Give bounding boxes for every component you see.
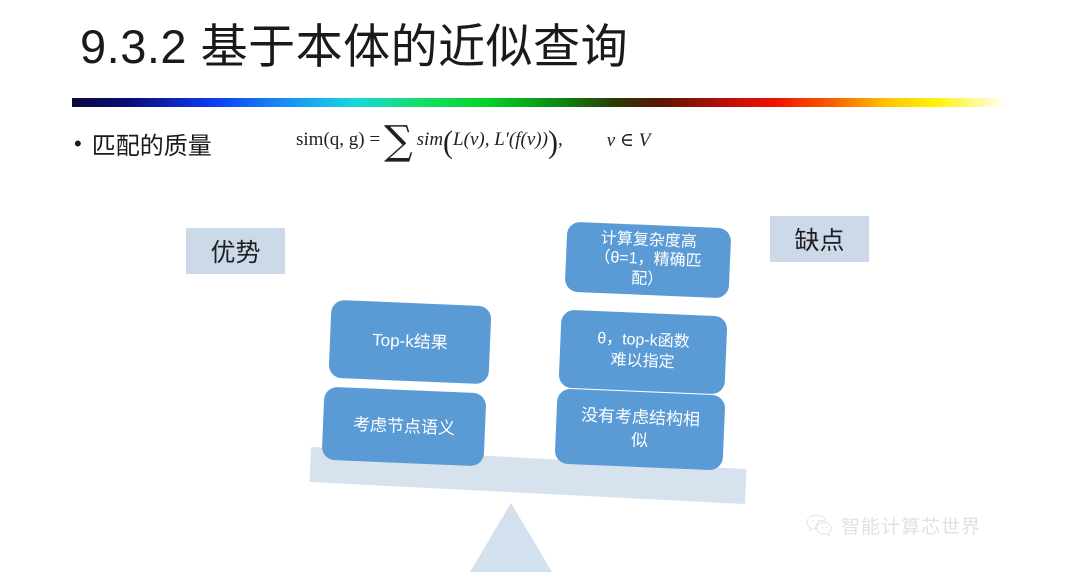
slide-canvas: 9.3.2 基于本体的近似查询 • 匹配的质量 sim(q, g) = ∑ si… [0,0,1080,572]
title-accent-rule [72,98,1008,107]
block-high-complexity-line1: 计算复杂度高 [600,230,697,251]
block-theta-topk-hard-text: θ，top-k函数 难以指定 [596,329,690,374]
block-high-complexity-line2: （θ=1，精确匹 [594,249,702,270]
formula-open-paren: ( [443,131,453,153]
formula-lhs: sim(q, g) = [296,129,380,151]
label-disadvantages: 缺点 [770,216,869,262]
block-theta-topk-hard: θ，top-k函数 难以指定 [558,310,727,395]
block-node-semantics: 考虑节点语义 [322,387,487,467]
block-no-structural-similarity-text: 没有考虑结构相 似 [580,405,701,454]
formula-args: L(v), L′(f(v)) [453,129,548,151]
bullet-marker: • [74,133,82,155]
block-theta-topk-hard-line1: θ，top-k函数 [597,330,690,351]
block-theta-topk-hard-line2: 难以指定 [610,352,675,372]
bullet-label: 匹配的质量 [92,126,212,161]
label-advantages: 优势 [186,228,285,274]
watermark: 智能计算芯世界 [806,512,981,539]
block-no-structural-similarity-line2: 似 [631,430,649,450]
formula-sigma: ∑ [380,127,417,155]
balance-fulcrum-triangle [470,503,552,572]
formula-comma: , [558,129,563,151]
formula-close-paren: ) [548,131,558,153]
block-high-complexity-line3: 配） [631,270,664,288]
bullet-row: • 匹配的质量 [74,126,212,161]
similarity-formula: sim(q, g) = ∑ sim ( L(v), L′(f(v)) ) , v… [296,126,650,154]
page-title: 9.3.2 基于本体的近似查询 [80,22,628,71]
block-topk-results: Top-k结果 [328,300,491,385]
wechat-icon [806,514,834,538]
block-no-structural-similarity: 没有考虑结构相 似 [555,389,726,471]
watermark-text: 智能计算芯世界 [841,512,981,539]
block-no-structural-similarity-line1: 没有考虑结构相 [581,406,701,430]
formula-condition: v ∈ V [607,129,651,152]
block-high-complexity: 计算复杂度高 （θ=1，精确匹 配） [565,222,732,299]
block-high-complexity-text: 计算复杂度高 （θ=1，精确匹 配） [593,229,703,292]
block-node-semantics-text: 考虑节点语义 [353,413,456,439]
block-topk-results-text: Top-k结果 [372,330,448,355]
formula-sim: sim [417,129,443,151]
